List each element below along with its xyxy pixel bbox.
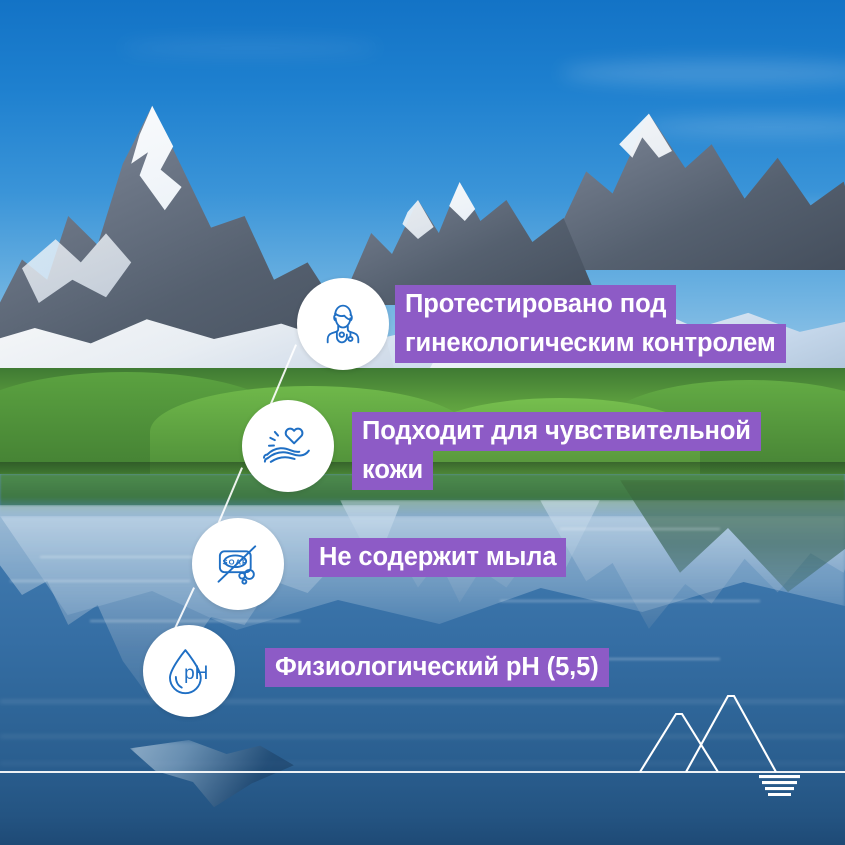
feature-label-line: Протестировано под [395, 285, 676, 324]
feature-labels-1: Протестировано под гинекологическим конт… [395, 285, 786, 363]
hand-heart-icon [259, 417, 317, 475]
svg-text:pH: pH [184, 663, 208, 684]
feature-badge-ph-droplet[interactable]: pH [143, 625, 235, 717]
mountain-logo-mark [630, 686, 845, 796]
feature-labels-2: Подходит для чувствительной кожи [352, 412, 761, 490]
feature-labels-3: Не содержит мыла [309, 538, 566, 577]
no-soap-icon: SOAP [209, 535, 267, 593]
cloud-wisp [120, 40, 380, 56]
promo-image: Протестировано под гинекологическим конт… [0, 0, 845, 845]
ph-droplet-icon: pH [160, 642, 218, 700]
feature-badge-hand-heart[interactable] [242, 400, 334, 492]
doctor-stethoscope-icon [315, 296, 371, 352]
feature-labels-4: Физиологический pH (5,5) [265, 648, 609, 687]
feature-label-line: Подходит для чувствительной [352, 412, 761, 451]
feature-badge-no-soap[interactable]: SOAP [192, 518, 284, 610]
feature-label-line: Физиологический pH (5,5) [265, 648, 609, 687]
feature-label-line: гинекологическим контролем [395, 324, 786, 363]
feature-label-line: кожи [352, 451, 433, 490]
feature-badge-doctor[interactable] [297, 278, 389, 370]
inverted-striped-triangle [759, 775, 800, 796]
feature-label-line: Не содержит мыла [309, 538, 566, 577]
